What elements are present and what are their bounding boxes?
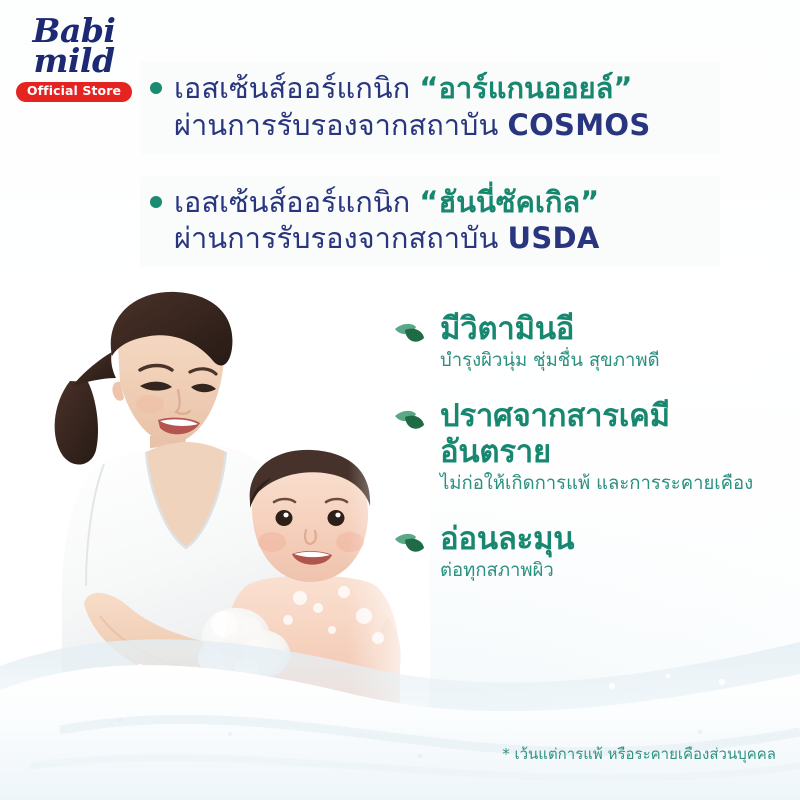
feature-item-no-harmful-chemicals: ปราศจากสารเคมี อันตราย ไม่ก่อให้เกิดการแ… [392,399,792,496]
claim-line-2: ผ่านการรับรองจากสถาบัน USDA [174,220,710,257]
claim-item: เอสเซ้นส์ออร์แกนิก “ฮันนี่ซัคเกิล” ผ่านก… [140,176,720,268]
feature-subtitle: ไม่ก่อให้เกิดการแพ้ และการระคายเคือง [440,472,792,496]
feature-title-line2: อันตราย [440,435,792,470]
feature-subtitle: บำรุงผิวนุ่ม ชุ่มชื่น สุขภาพดี [440,349,792,373]
feature-title: มีวิตามินอี [440,312,792,347]
claim-item: เอสเซ้นส์ออร์แกนิก “อาร์แกนออยล์” ผ่านกา… [140,62,720,154]
feature-list: มีวิตามินอี บำรุงผิวนุ่ม ชุ่มชื่น สุขภาพ… [392,312,792,609]
feature-subtitle: ต่อทุกสภาพผิว [440,559,792,583]
claim-institute: COSMOS [508,108,651,142]
leaf-icon [392,405,430,435]
brand-name-line2: mild [14,44,134,77]
bullet-dot-icon [150,196,162,208]
claim-line-2: ผ่านการรับรองจากสถาบัน COSMOS [174,107,710,144]
claim-certified-text: ผ่านการรับรองจากสถาบัน [174,221,508,255]
footnote-disclaimer: * เว้นแต่การแพ้ หรือระคายเคืองส่วนบุคคล [502,742,776,766]
claims-list: เอสเซ้นส์ออร์แกนิก “อาร์แกนออยล์” ผ่านกา… [140,62,720,289]
claim-certified-text: ผ่านการรับรองจากสถาบัน [174,108,508,142]
feature-item-vitamin-e: มีวิตามินอี บำรุงผิวนุ่ม ชุ่มชื่น สุขภาพ… [392,312,792,373]
claim-prefix: เอสเซ้นส์ออร์แกนิก [174,71,419,105]
feature-title: อ่อนละมุน [440,522,792,557]
brand-logo[interactable]: Babi mild Official Store [14,14,134,102]
claim-prefix: เอสเซ้นส์ออร์แกนิก [174,185,419,219]
feature-title-line1: ปราศจากสารเคมี [440,399,792,434]
official-store-badge: Official Store [16,82,132,102]
leaf-icon [392,528,430,558]
claim-institute: USDA [508,221,600,255]
leaf-icon [392,318,430,348]
claim-highlight: “อาร์แกนออยล์” [419,71,632,105]
claim-line-1: เอสเซ้นส์ออร์แกนิก “ฮันนี่ซัคเกิล” [174,184,710,221]
claim-line-1: เอสเซ้นส์ออร์แกนิก “อาร์แกนออยล์” [174,70,710,107]
feature-item-gentle: อ่อนละมุน ต่อทุกสภาพผิว [392,522,792,583]
advertisement-canvas: Babi mild Official Store เอสเซ้นส์ออร์แก… [0,0,800,800]
claim-highlight: “ฮันนี่ซัคเกิล” [419,185,599,219]
bullet-dot-icon [150,82,162,94]
